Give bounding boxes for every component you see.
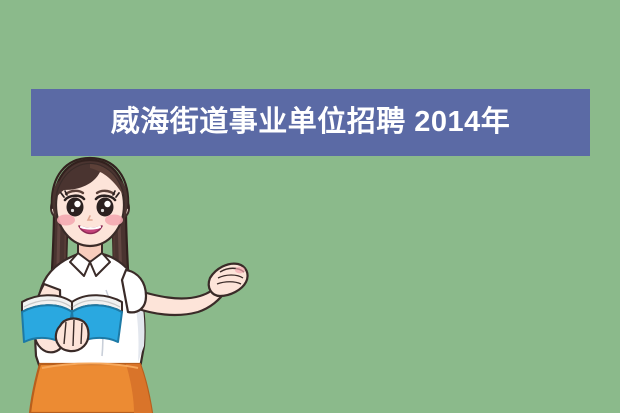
poster-title: 威海街道事业单位招聘 2014年: [111, 108, 511, 137]
illustration-cartoon-girl: [14, 150, 264, 413]
hand-left-holding-book: [56, 319, 89, 352]
hand-right-open: [209, 264, 248, 296]
poster-canvas: 威海街道事业单位招聘 2014年: [0, 0, 620, 413]
cartoon-girl-icon: [14, 150, 264, 413]
blush-left: [57, 215, 75, 226]
blush-right: [105, 215, 123, 226]
title-banner: 威海街道事业单位招聘 2014年: [31, 89, 590, 156]
